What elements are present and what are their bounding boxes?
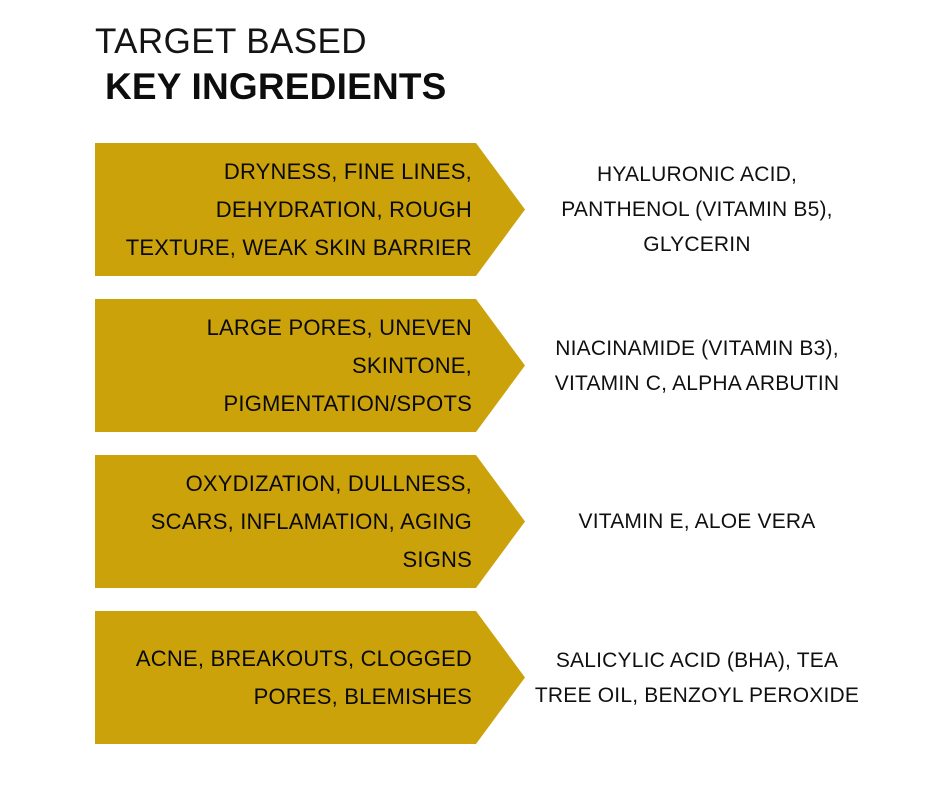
ingredients-label: NIACINAMIDE (VITAMIN B3), VITAMIN C, ALP… bbox=[532, 331, 862, 401]
ingredients-cell: HYALURONIC ACID, PANTHENOL (VITAMIN B5),… bbox=[532, 143, 862, 276]
infographic-poster: TARGET BASED KEY INGREDIENTS DRYNESS, FI… bbox=[0, 0, 940, 788]
ingredients-cell: SALICYLIC ACID (BHA), TEA TREE OIL, BENZ… bbox=[532, 611, 862, 744]
concern-label: ACNE, BREAKOUTS, CLOGGED PORES, BLEMISHE… bbox=[109, 640, 472, 716]
concern-arrow-banner: LARGE PORES, UNEVEN SKINTONE, PIGMENTATI… bbox=[95, 299, 525, 432]
title-line-secondary: KEY INGREDIENTS bbox=[105, 64, 795, 110]
ingredients-label: SALICYLIC ACID (BHA), TEA TREE OIL, BENZ… bbox=[532, 643, 862, 713]
concern-label: DRYNESS, FINE LINES, DEHYDRATION, ROUGH … bbox=[109, 153, 472, 267]
ingredients-cell: VITAMIN E, ALOE VERA bbox=[532, 455, 862, 588]
concern-arrow-banner: OXYDIZATION, DULLNESS, SCARS, INFLAMATIO… bbox=[95, 455, 525, 588]
ingredient-row: ACNE, BREAKOUTS, CLOGGED PORES, BLEMISHE… bbox=[0, 611, 940, 744]
ingredient-row: DRYNESS, FINE LINES, DEHYDRATION, ROUGH … bbox=[0, 143, 940, 276]
ingredients-label: HYALURONIC ACID, PANTHENOL (VITAMIN B5),… bbox=[532, 157, 862, 262]
concern-arrow-banner: DRYNESS, FINE LINES, DEHYDRATION, ROUGH … bbox=[95, 143, 525, 276]
concern-label: OXYDIZATION, DULLNESS, SCARS, INFLAMATIO… bbox=[109, 465, 472, 579]
ingredient-row: OXYDIZATION, DULLNESS, SCARS, INFLAMATIO… bbox=[0, 455, 940, 588]
title-line-primary: TARGET BASED bbox=[95, 20, 795, 64]
concern-label: LARGE PORES, UNEVEN SKINTONE, PIGMENTATI… bbox=[109, 309, 472, 423]
ingredient-row: LARGE PORES, UNEVEN SKINTONE, PIGMENTATI… bbox=[0, 299, 940, 432]
page-title: TARGET BASED KEY INGREDIENTS bbox=[95, 20, 795, 110]
concern-arrow-banner: ACNE, BREAKOUTS, CLOGGED PORES, BLEMISHE… bbox=[95, 611, 525, 744]
ingredients-label: VITAMIN E, ALOE VERA bbox=[578, 504, 815, 539]
ingredient-rows: DRYNESS, FINE LINES, DEHYDRATION, ROUGH … bbox=[0, 143, 940, 767]
ingredients-cell: NIACINAMIDE (VITAMIN B3), VITAMIN C, ALP… bbox=[532, 299, 862, 432]
